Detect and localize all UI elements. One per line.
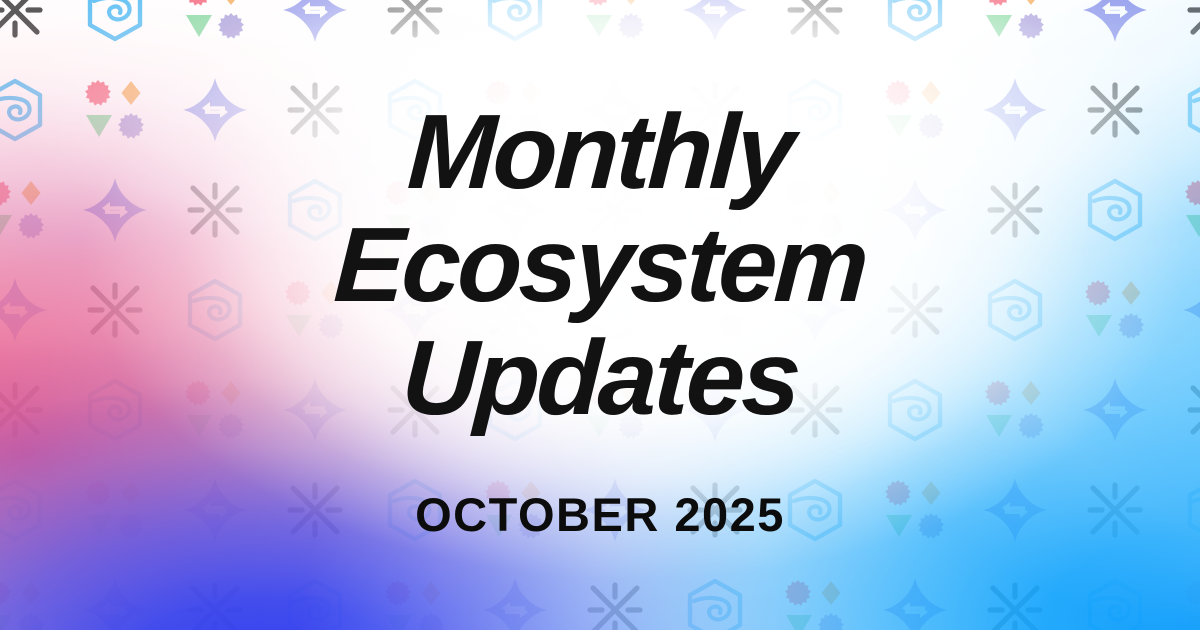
title-line-2: Ecosystem bbox=[0, 209, 1200, 322]
title-line-3: Updates bbox=[0, 322, 1200, 435]
subtitle-date: OCTOBER 2025 bbox=[415, 487, 785, 542]
page-title: Monthly Ecosystem Updates bbox=[0, 96, 1200, 435]
title-line-1: Monthly bbox=[0, 96, 1200, 209]
monthly-ecosystem-updates-banner: Monthly Ecosystem Updates OCTOBER 2025 bbox=[0, 0, 1200, 630]
text-content-layer: Monthly Ecosystem Updates OCTOBER 2025 bbox=[0, 0, 1200, 630]
